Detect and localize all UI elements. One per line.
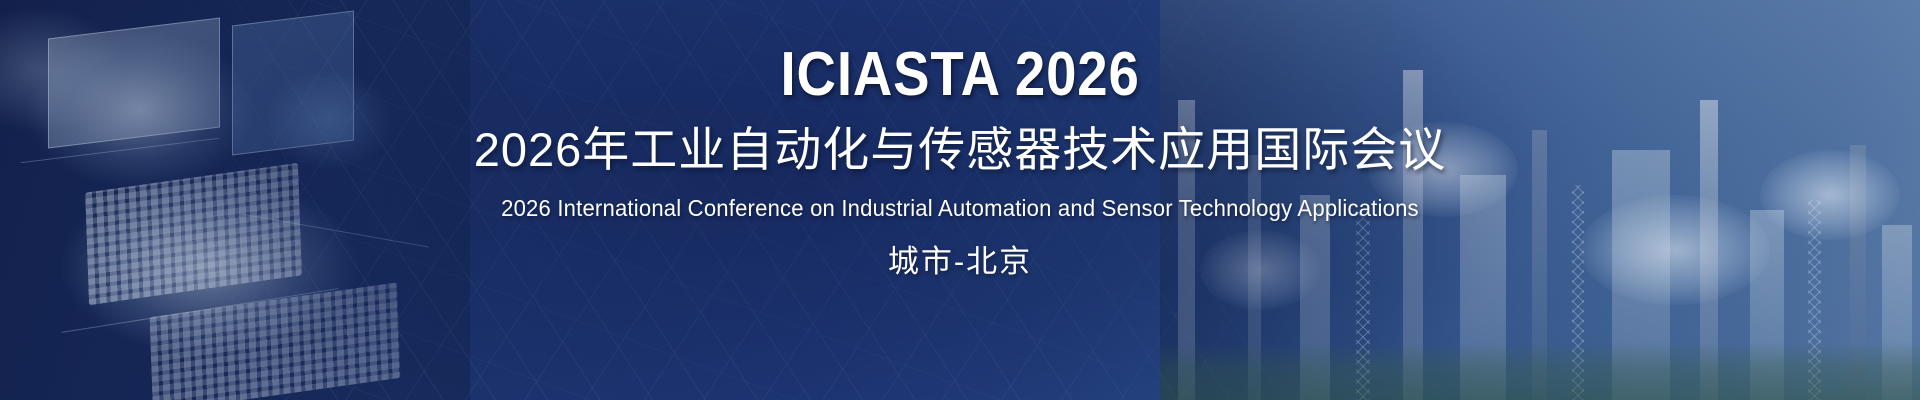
conference-banner: ICIASTA 2026 2026年工业自动化与传感器技术应用国际会议 2026… [0,0,1920,400]
conference-acronym-title: ICIASTA 2026 [780,44,1139,106]
conference-city-label: 城市-北京 [888,246,1032,277]
conference-title-english: 2026 International Conference on Industr… [501,197,1419,220]
banner-text-block: ICIASTA 2026 2026年工业自动化与传感器技术应用国际会议 2026… [0,0,1920,400]
conference-title-chinese: 2026年工业自动化与传感器技术应用国际会议 [474,126,1447,173]
